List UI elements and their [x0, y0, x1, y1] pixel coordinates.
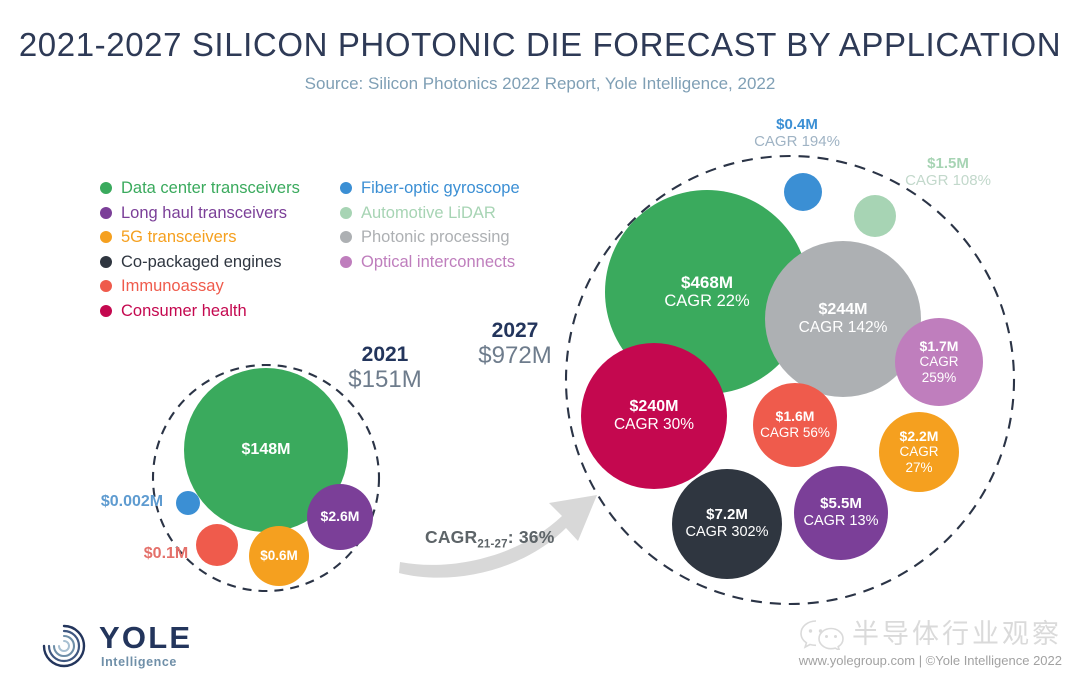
year-caption-2021: 2021 $151M — [330, 344, 440, 394]
bubble-value: $5.5M — [820, 496, 862, 513]
overall-cagr-label: CAGR21-27: 36% — [425, 527, 554, 551]
bubble-fiber-optic-gyroscope[interactable] — [784, 173, 822, 211]
bubble-5g-transceivers[interactable]: $2.2MCAGR 27% — [879, 412, 959, 492]
bubble-cagr: CAGR 142% — [799, 319, 888, 337]
infographic-canvas: 2021-2027 SILICON PHOTONIC DIE FORECAST … — [0, 0, 1080, 698]
bubble-value: $7.2M — [706, 507, 748, 524]
outside-label-fiber-optic-gyroscope-label: $0.4MCAGR 194% — [745, 116, 849, 150]
outside-label-value: $0.4M — [745, 116, 849, 133]
bubble-cagr: CAGR 56% — [759, 425, 830, 440]
bubble-cagr: CAGR 27% — [885, 444, 953, 475]
watermark-chinese-text: 半导体行业观察 — [852, 621, 1062, 648]
bubble-value: $2.2M — [900, 429, 939, 445]
footer-url: www.yolegroup.com | ©Yole Intelligence 2… — [799, 653, 1062, 668]
brand-name: YOLE — [99, 623, 192, 652]
bubble-cagr: CAGR 30% — [614, 416, 694, 434]
bubble-automotive-lidar[interactable] — [854, 195, 896, 237]
watermark: 半导体行业观察 www.yolegroup.com | ©Yole Intell… — [799, 618, 1062, 668]
bubble-cagr: CAGR 22% — [664, 292, 749, 311]
bubble-value: $2.6M — [321, 509, 360, 525]
bubble-value: $1.6M — [776, 409, 815, 425]
year-total-2021: $151M — [330, 367, 440, 394]
year-label-2027: 2027 — [455, 320, 575, 343]
year-caption-2027: 2027 $972M — [455, 320, 575, 370]
bubble-value: $148M — [242, 441, 291, 459]
bubble-5g-transceivers[interactable]: $0.6M — [249, 526, 309, 586]
bubble-long-haul-transceivers[interactable]: $5.5MCAGR 13% — [794, 466, 888, 560]
yole-swirl-icon — [38, 620, 90, 672]
outside-label-value: $0.002M — [82, 493, 182, 511]
bubble-value: $0.6M — [260, 548, 298, 563]
bubble-long-haul-transceivers[interactable]: $2.6M — [307, 484, 373, 550]
bubble-cagr: CAGR 259% — [902, 354, 977, 385]
bubble-value: $240M — [630, 398, 679, 416]
outside-label-cagr: CAGR 108% — [893, 172, 1003, 189]
bubble-immunoassay[interactable]: $1.6MCAGR 56% — [753, 383, 837, 467]
bubble-value: $468M — [681, 273, 733, 292]
outside-label-fiber-optic-gyroscope-label: $0.002M — [82, 493, 182, 511]
brand-subtitle: Intelligence — [101, 655, 192, 669]
outside-label-value: $1.5M — [893, 155, 1003, 172]
bubble-value: $244M — [819, 301, 868, 319]
wechat-icon — [799, 618, 845, 650]
year-total-2027: $972M — [455, 343, 575, 370]
bubble-cagr: CAGR 13% — [804, 513, 879, 530]
outside-label-value: $0.1M — [130, 545, 202, 563]
overall-cagr-subscript: 21-27 — [477, 539, 507, 551]
overall-cagr-suffix: : 36% — [508, 527, 555, 547]
bubble-optical-interconnects[interactable]: $1.7MCAGR 259% — [895, 318, 983, 406]
bubble-co-packaged-engines[interactable]: $7.2MCAGR 302% — [672, 469, 782, 579]
outside-label-cagr: CAGR 194% — [745, 133, 849, 150]
year-label-2021: 2021 — [330, 344, 440, 367]
bubble-value: $1.7M — [920, 339, 959, 355]
bubble-immunoassay[interactable] — [196, 524, 238, 566]
bubble-consumer-health[interactable]: $240MCAGR 30% — [581, 343, 727, 489]
outside-label-automotive-lidar-label: $1.5MCAGR 108% — [893, 155, 1003, 189]
yole-logo: YOLE Intelligence — [38, 620, 192, 672]
outside-label-immunoassay-label: $0.1M — [130, 545, 202, 563]
bubble-cagr: CAGR 302% — [685, 524, 768, 541]
overall-cagr-prefix: CAGR — [425, 527, 477, 547]
